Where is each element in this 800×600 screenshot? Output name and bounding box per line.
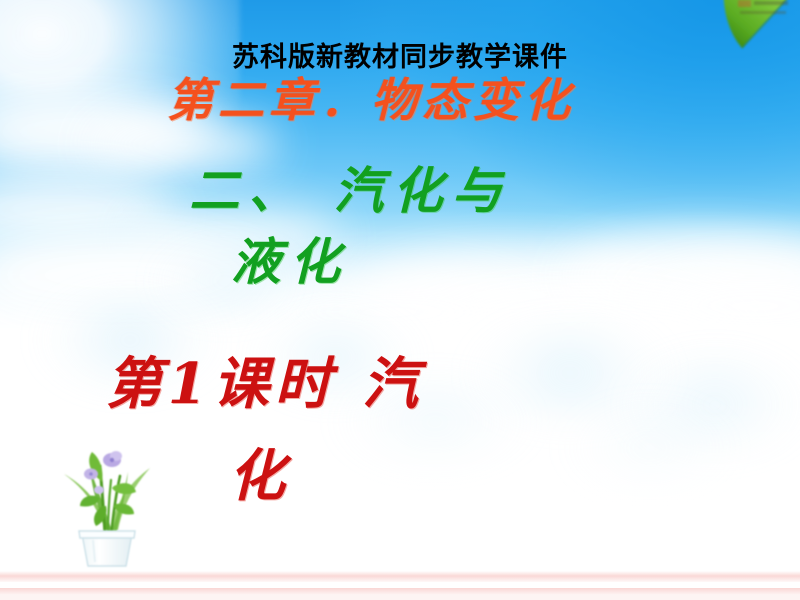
header-subtitle: 苏科版新教材同步教学课件 xyxy=(0,44,800,71)
section-title-line-1: 二、 汽化与 xyxy=(0,166,700,216)
lesson-title-line-2: 化 xyxy=(0,448,520,504)
presentation-slide: 苏科版新教材同步教学课件 第二章．物态变化 二、 汽化与 液化 第1课时 汽 化 xyxy=(0,0,800,600)
lesson-title-line-1: 第1课时 汽 xyxy=(0,356,530,412)
section-title-line-2: 液化 xyxy=(0,237,580,287)
chapter-title: 第二章．物态变化 xyxy=(0,77,742,123)
floor-band xyxy=(0,595,800,600)
floor-band xyxy=(0,588,800,595)
floor-band xyxy=(0,571,800,582)
